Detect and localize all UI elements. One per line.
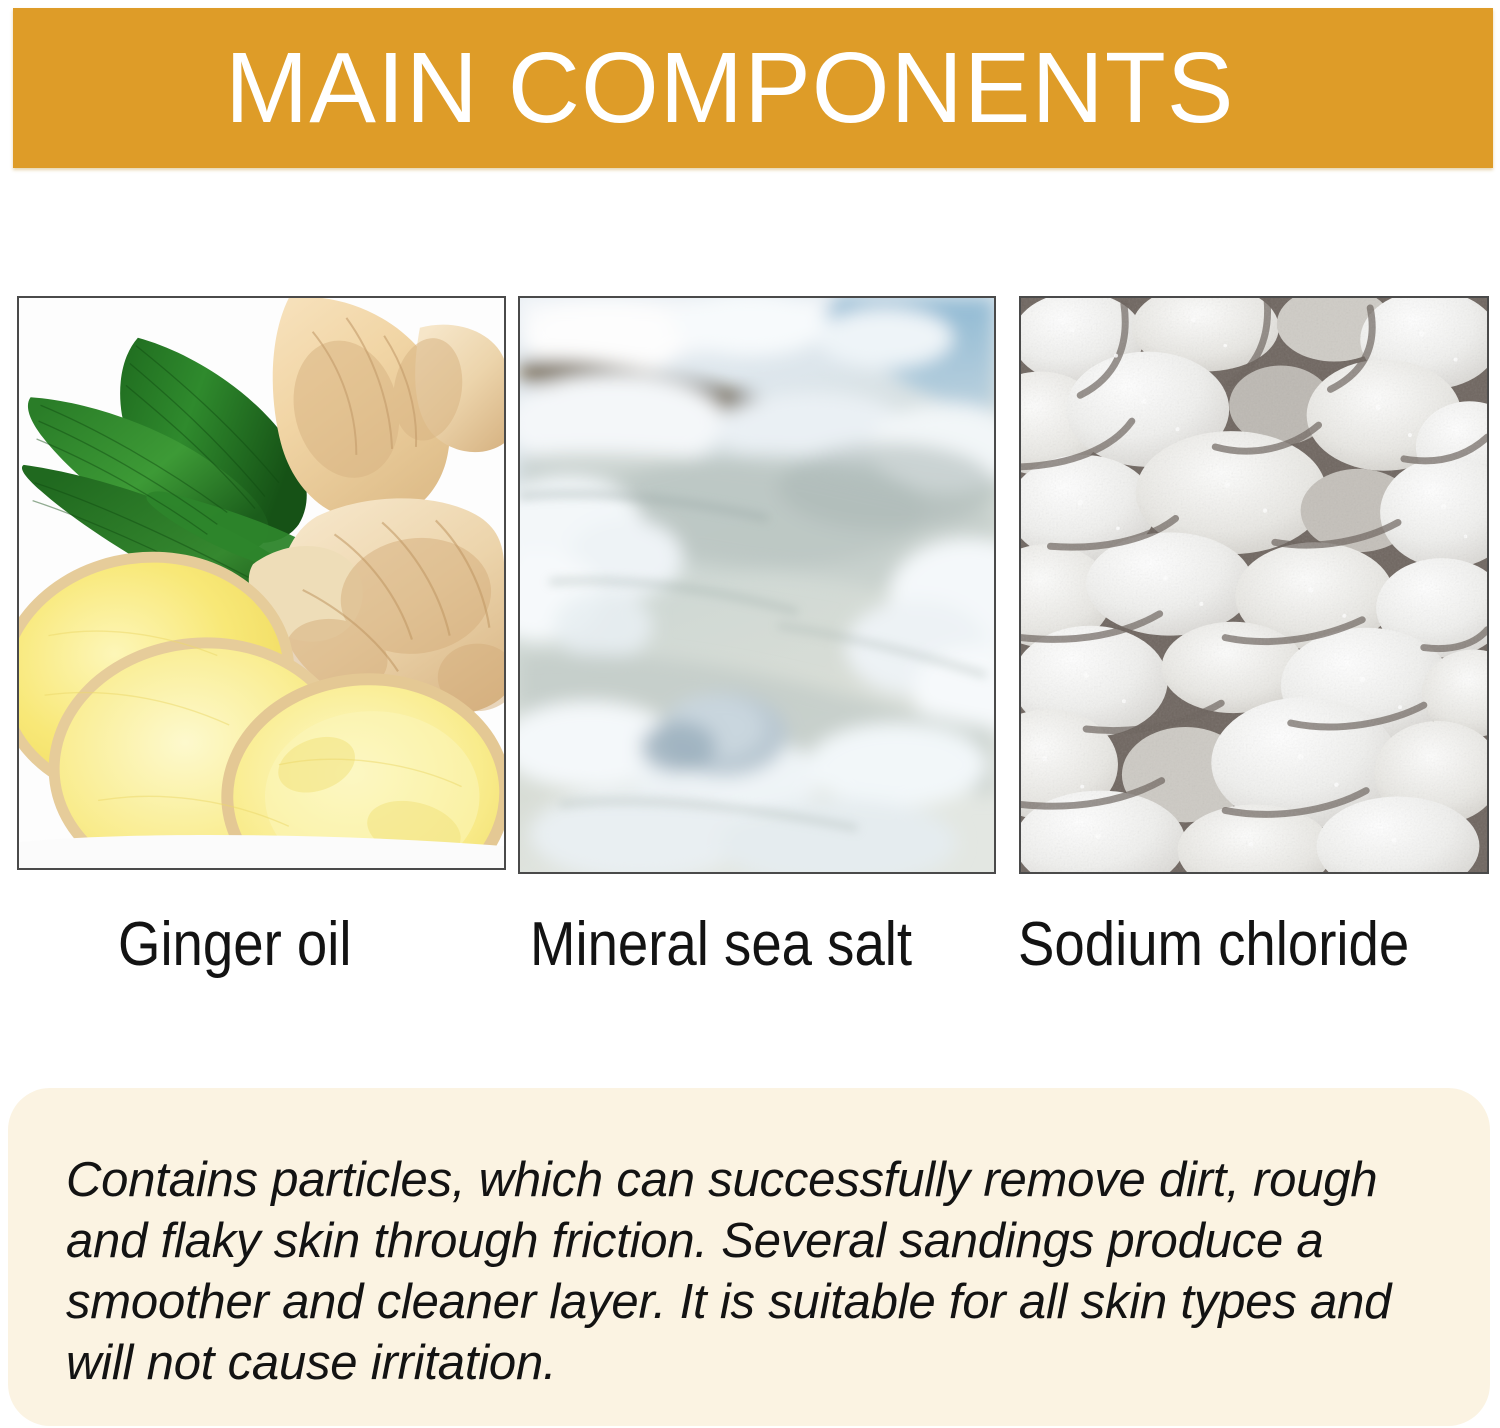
component-label-ginger-oil: Ginger oil — [118, 905, 352, 985]
main-components-banner: MAIN COMPONENTS — [13, 8, 1493, 168]
description-card: Contains particles, which can successful… — [8, 1088, 1490, 1426]
component-label-sodium-chloride: Sodium chloride — [1018, 905, 1409, 985]
ginger-root-and-slices-photo — [19, 298, 504, 868]
mineral-sea-salt-image-frame — [518, 296, 996, 874]
sodium-chloride-image-frame — [1019, 296, 1489, 874]
ginger-oil-image-frame — [17, 296, 506, 870]
sodium-chloride-crystals-photo — [1021, 298, 1487, 872]
description-text: Contains particles, which can successful… — [66, 1150, 1456, 1394]
component-label-mineral-sea-salt: Mineral sea salt — [530, 905, 912, 985]
page-title: MAIN COMPONENTS — [225, 38, 1234, 138]
component-image-row — [0, 296, 1500, 874]
mineral-sea-salt-shore-photo — [520, 298, 994, 872]
